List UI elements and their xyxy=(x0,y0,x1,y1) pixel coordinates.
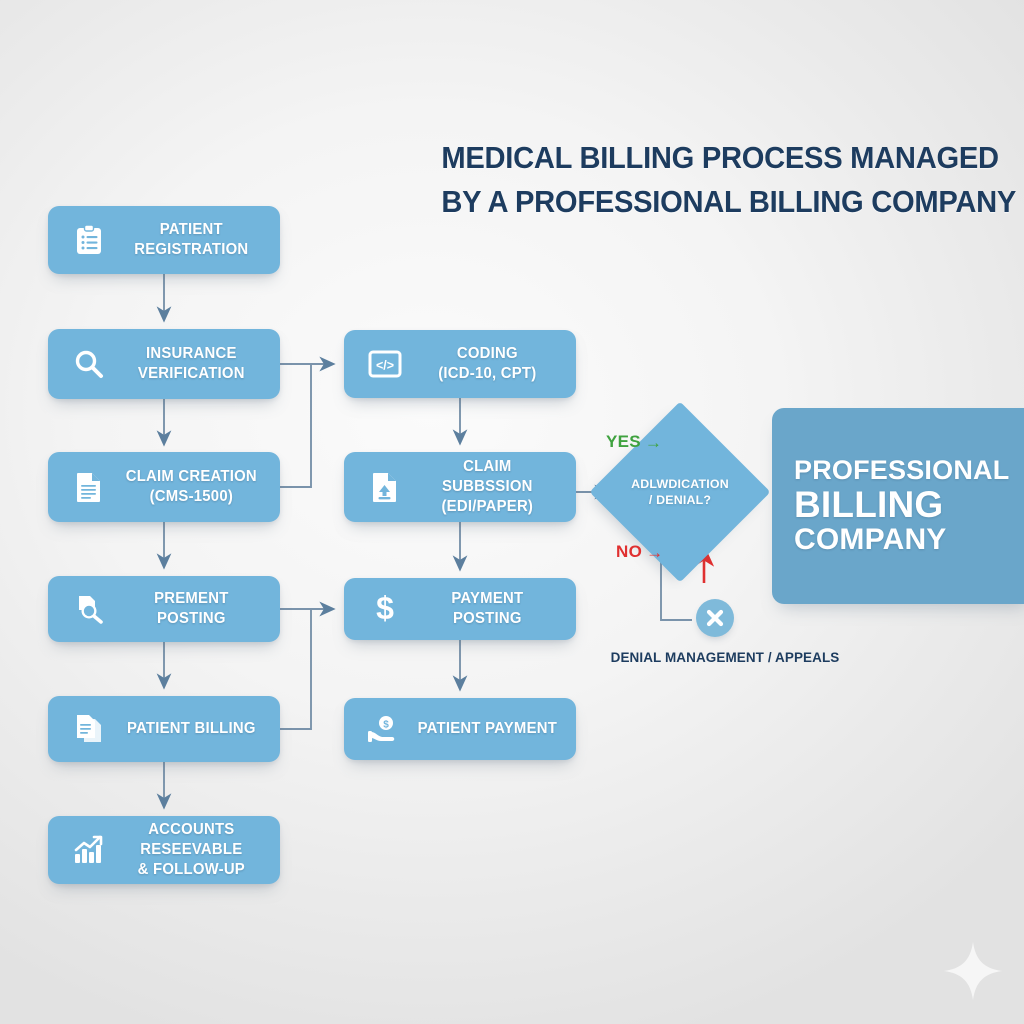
denial-management-caption: DENIAL MANAGEMENT / APPEALS xyxy=(568,650,882,666)
hand-holding-coin-icon: $ xyxy=(356,714,414,744)
node-label: CODING (ICD-10, CPT) xyxy=(417,344,573,384)
yes-arrow-icon: → xyxy=(645,434,662,451)
stacked-documents-icon xyxy=(60,713,118,745)
node-label: ACCOUNTS RESEEVABLE & FOLLOW-UP xyxy=(121,820,277,879)
node-patient-billing[interactable]: PATIENT BILLING xyxy=(48,696,280,762)
title-line-2: BY A PROFESSIONAL BILLING COMPANY xyxy=(441,180,986,224)
brand-line-2: BILLING xyxy=(794,485,1024,525)
brand-line-1: PROFESSIONAL xyxy=(794,456,1024,485)
diagram-canvas: MEDICAL BILLING PROCESS MANAGED BY A PRO… xyxy=(0,0,1024,1024)
magnifier-icon xyxy=(60,348,118,380)
document-magnifier-icon xyxy=(60,593,118,625)
node-insurance-verification[interactable]: INSURANCE VERIFICATION xyxy=(48,329,280,399)
document-upload-icon xyxy=(356,471,414,503)
svg-text:$: $ xyxy=(383,720,389,731)
title-line-1: MEDICAL BILLING PROCESS MANAGED xyxy=(441,136,986,180)
no-arrow-icon: → xyxy=(646,544,663,561)
svg-text:</>: </> xyxy=(376,359,394,373)
page-title: MEDICAL BILLING PROCESS MANAGED BY A PRO… xyxy=(441,136,986,224)
document-icon xyxy=(60,471,118,503)
node-label: PREMENT POSTING xyxy=(121,589,277,629)
node-payment-posting[interactable]: $ PAYMENT POSTING xyxy=(344,578,576,640)
node-claim-creation[interactable]: CLAIM CREATION (CMS-1500) xyxy=(48,452,280,522)
circle-x-icon[interactable] xyxy=(696,599,734,637)
node-patient-payment[interactable]: $ PATIENT PAYMENT xyxy=(344,698,576,760)
node-coding[interactable]: </> CODING (ICD-10, CPT) xyxy=(344,330,576,398)
four-point-star-icon xyxy=(942,940,1004,1002)
node-prement-posting[interactable]: PREMENT POSTING xyxy=(48,576,280,642)
no-text: NO xyxy=(616,542,642,562)
svg-text:$: $ xyxy=(376,592,394,626)
node-label: PATIENT REGISTRATION xyxy=(121,220,277,260)
yes-branch-label: YES → xyxy=(606,432,662,452)
node-label: PATIENT PAYMENT xyxy=(417,719,573,739)
node-accounts-receivable[interactable]: ACCOUNTS RESEEVABLE & FOLLOW-UP xyxy=(48,816,280,884)
node-label: PAYMENT POSTING xyxy=(417,589,573,629)
node-label: CLAIM SUBBSSION (EDI/PAPER) xyxy=(417,457,573,516)
bar-chart-growth-icon xyxy=(60,835,118,865)
brand-panel: PROFESSIONAL BILLING COMPANY xyxy=(772,408,1024,604)
brand-line-3: COMPANY xyxy=(794,524,1024,556)
node-patient-registration[interactable]: PATIENT REGISTRATION xyxy=(48,206,280,274)
node-label: INSURANCE VERIFICATION xyxy=(121,344,277,384)
yes-text: YES xyxy=(606,432,641,452)
node-claim-submission[interactable]: CLAIM SUBBSSION (EDI/PAPER) xyxy=(344,452,576,522)
node-label: PATIENT BILLING xyxy=(121,719,277,739)
code-brackets-icon: </> xyxy=(356,350,414,378)
no-branch-label: NO → xyxy=(616,542,663,562)
node-label: CLAIM CREATION (CMS-1500) xyxy=(121,467,277,507)
clipboard-icon xyxy=(60,224,118,256)
dollar-sign-icon: $ xyxy=(356,592,414,626)
